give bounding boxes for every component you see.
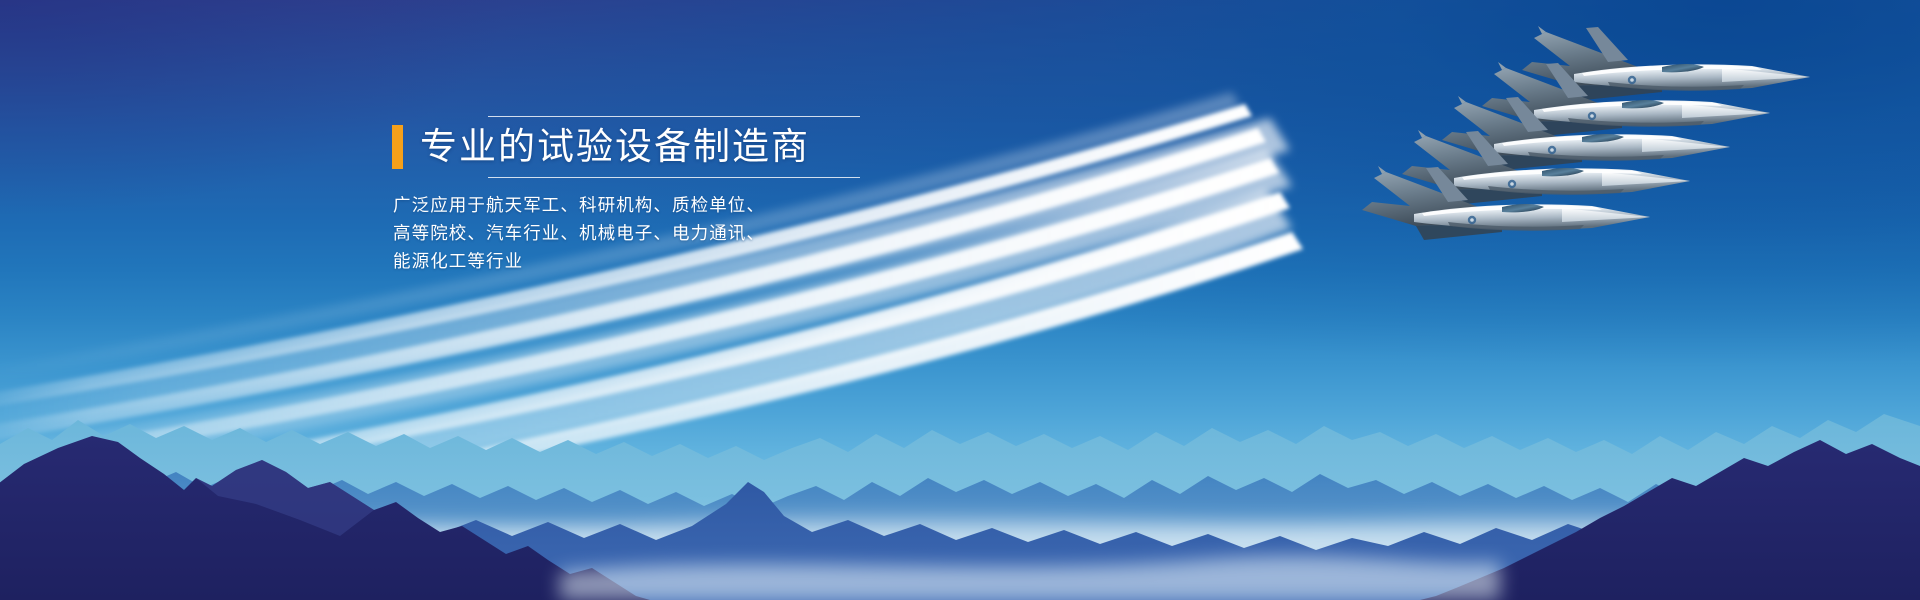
banner-copy-block: 专业的试验设备制造商 广泛应用于航天军工、科研机构、质检单位、 高等院校、汽车行… [392,116,1092,275]
headline-rule-top [488,116,860,117]
hero-banner: 专业的试验设备制造商 广泛应用于航天军工、科研机构、质检单位、 高等院校、汽车行… [0,0,1920,600]
accent-bar-icon [392,125,403,169]
subtitle-line-3: 能源化工等行业 [393,247,1092,275]
fighter-jet-formation-icon [1120,30,1920,310]
headline-rule-bottom [488,177,860,178]
subtitle-block: 广泛应用于航天军工、科研机构、质检单位、 高等院校、汽车行业、机械电子、电力通讯… [393,191,1092,275]
mountain-range-silhouettes [0,340,1920,600]
page-title: 专业的试验设备制造商 [420,125,810,169]
headline-row: 专业的试验设备制造商 [392,125,1092,169]
subtitle-line-2: 高等院校、汽车行业、机械电子、电力通讯、 [393,219,1092,247]
subtitle-line-1: 广泛应用于航天军工、科研机构、质检单位、 [393,191,1092,219]
